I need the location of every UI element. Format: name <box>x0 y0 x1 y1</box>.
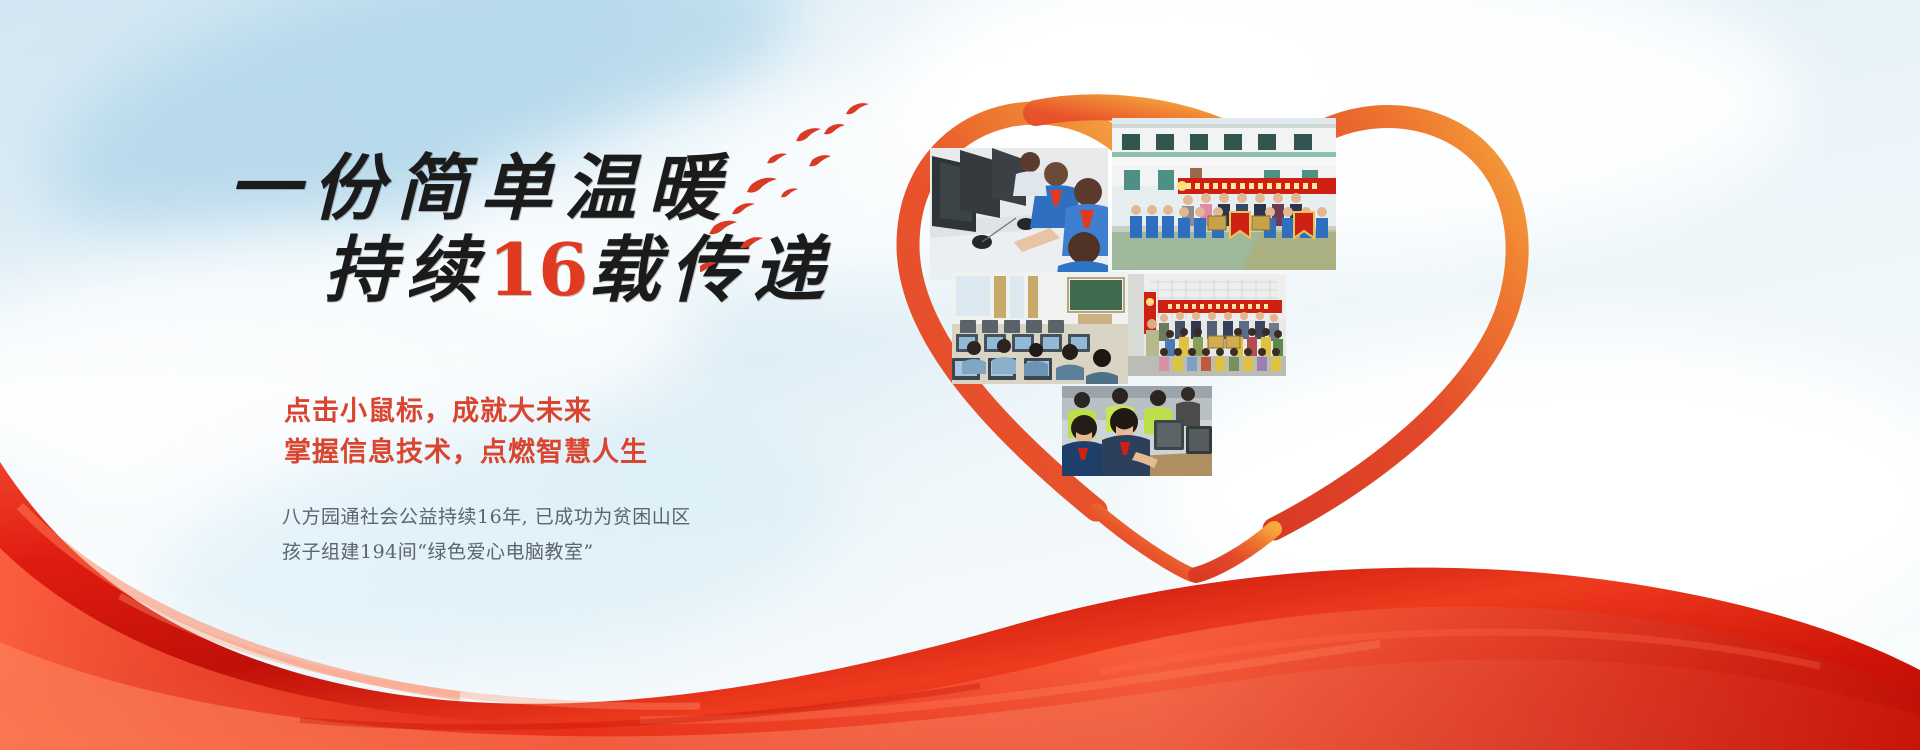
photo-computer-class-students <box>930 148 1108 280</box>
headline-line2-prefix: 持续 <box>324 227 488 312</box>
photo-school-donation-ceremony <box>1112 118 1336 270</box>
red-silk-wave-decoration <box>0 420 1920 750</box>
charity-banner: 一份简单温暖 持续16载传递 点击小鼠标，成就大未来 掌握信息技术，点燃智慧人生… <box>0 0 1920 750</box>
photo-group-photo-award <box>1128 274 1286 376</box>
photo-computer-lab-room <box>952 272 1128 384</box>
headline-years-number: 16 <box>488 227 588 312</box>
